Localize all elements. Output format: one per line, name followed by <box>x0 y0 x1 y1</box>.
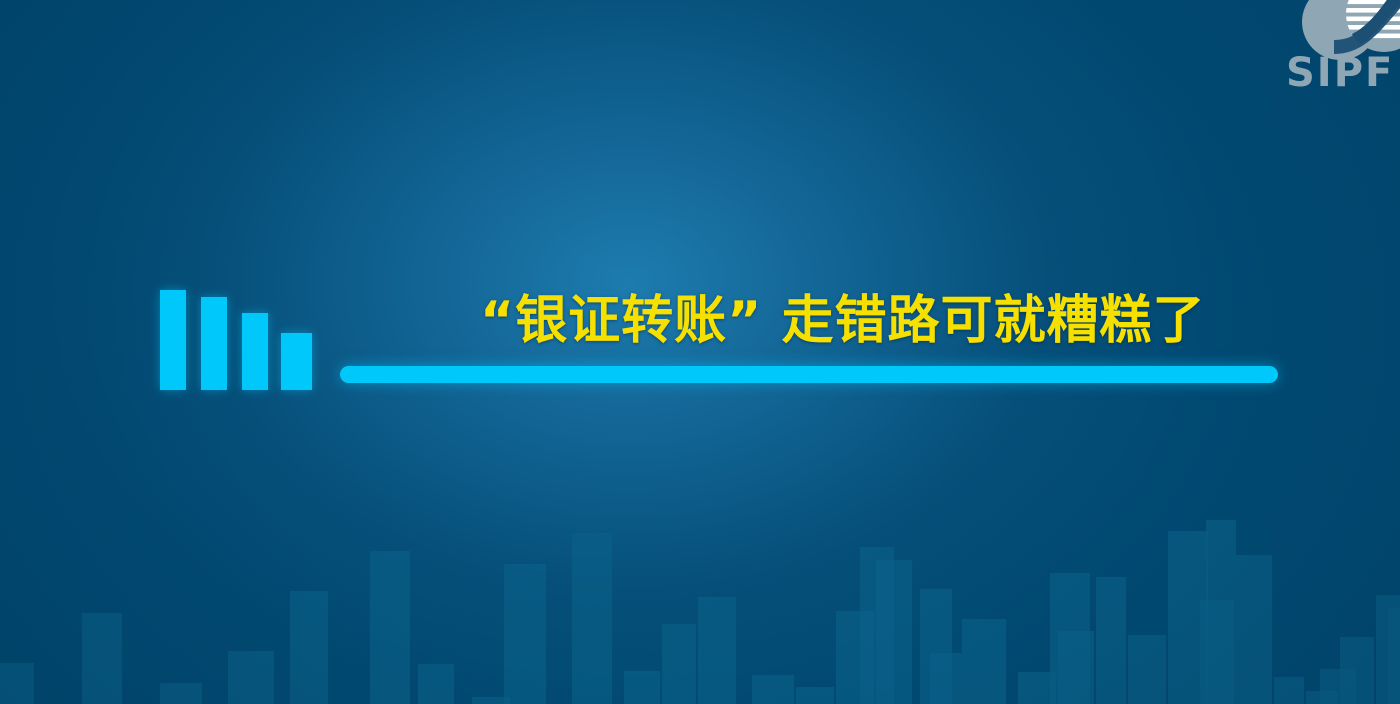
sipf-logo-text: SIPF <box>1286 50 1394 96</box>
deco-bar <box>160 683 202 704</box>
deco-bar <box>698 597 736 704</box>
page-title: “银证转账” 走错路可就糟糕了 <box>480 282 1280 360</box>
deco-bar <box>1320 669 1356 704</box>
deco-bar <box>1274 677 1304 704</box>
icon-bar-1 <box>160 290 186 390</box>
deco-bar <box>228 651 274 704</box>
deco-bar <box>662 624 696 704</box>
deco-bar <box>1128 635 1166 704</box>
icon-bar-3 <box>242 313 268 390</box>
icon-bar-4 <box>281 333 312 390</box>
deco-bar <box>0 663 34 704</box>
deco-bar <box>290 591 328 704</box>
deco-bar <box>796 687 834 704</box>
icon-bar-2 <box>201 297 227 390</box>
title-underline <box>340 366 1278 383</box>
deco-bar <box>860 547 894 704</box>
descending-bar-chart-icon <box>160 290 312 390</box>
deco-bar <box>418 664 454 704</box>
deco-bar <box>82 613 122 704</box>
deco-bar <box>370 551 410 704</box>
decorative-bar-chart-background <box>0 504 1400 704</box>
deco-bar <box>504 564 546 704</box>
deco-bar <box>920 589 952 704</box>
sipf-logo: SIPF <box>1278 0 1400 104</box>
deco-bar <box>752 675 794 704</box>
title-block: “银证转账” 走错路可就糟糕了 <box>0 282 1400 392</box>
deco-bar <box>572 533 612 704</box>
presentation-slide: SIPF “银证转账” 走错路可就糟糕了 <box>0 0 1400 704</box>
deco-bar <box>1096 577 1126 704</box>
deco-bar <box>624 671 660 704</box>
deco-bar <box>1206 520 1236 704</box>
deco-bar <box>1050 573 1090 704</box>
deco-bar <box>962 619 1006 704</box>
deco-bar <box>1236 555 1272 704</box>
deco-bar <box>1388 608 1400 704</box>
